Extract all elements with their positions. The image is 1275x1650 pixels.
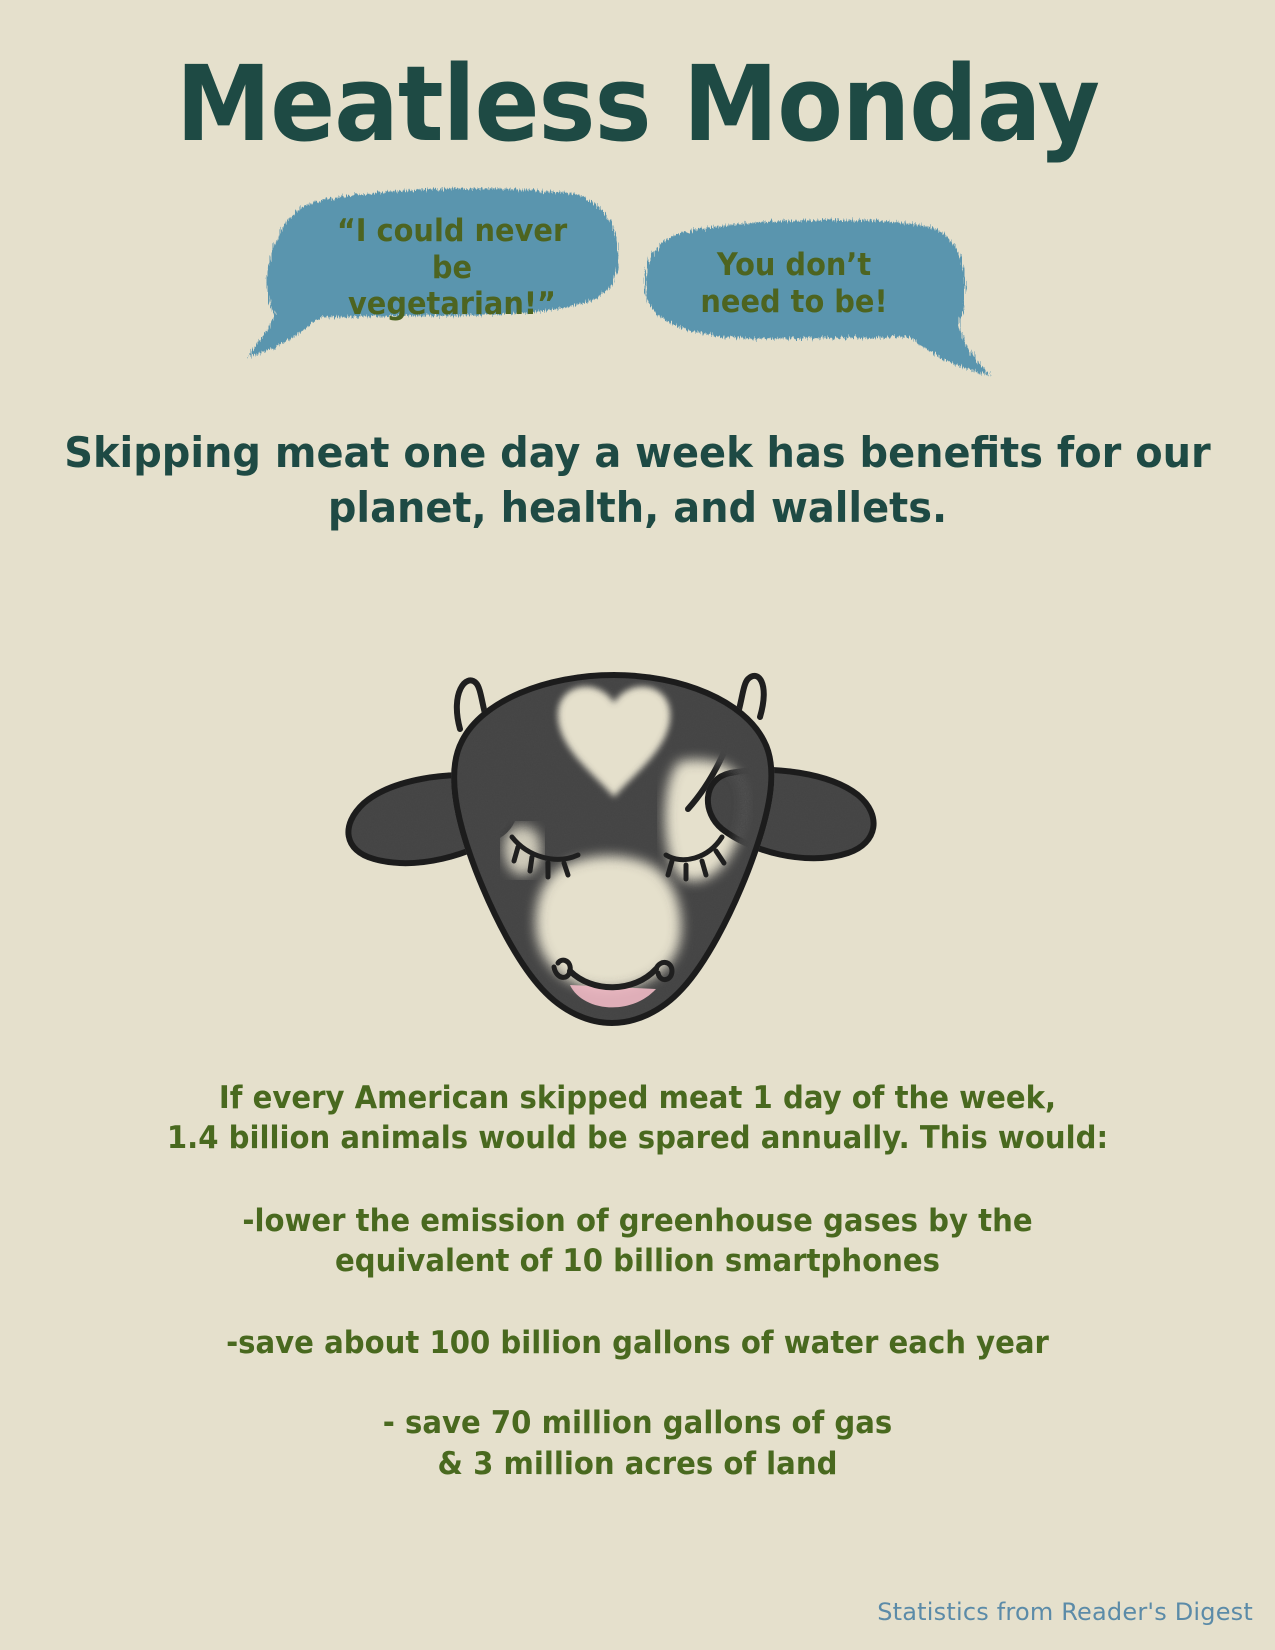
cow-svg xyxy=(330,565,890,1045)
subheading: Skipping meat one day a week has benefit… xyxy=(32,425,1243,536)
speech-bubble-shapes xyxy=(0,185,1275,400)
stats-bullet-water: -save about 100 billion gallons of water… xyxy=(38,1323,1237,1363)
stats-bullet-gas-land: - save 70 million gallons of gas & 3 mil… xyxy=(38,1403,1237,1484)
speech-bubble-group: “I could never be vegetarian!” You don’t… xyxy=(0,185,1275,400)
stats-bullet-emissions: -lower the emission of greenhouse gases … xyxy=(38,1201,1237,1282)
cow-head-illustration xyxy=(330,565,890,1045)
reply-bubble-text: You don’t need to be! xyxy=(673,247,915,320)
objection-bubble-text: “I could never be vegetarian!” xyxy=(327,213,576,323)
poster-canvas: Meatless Monday “I cou xyxy=(0,0,1275,1650)
cow-head-shape xyxy=(454,675,771,1023)
page-title: Meatless Monday xyxy=(51,52,1224,156)
stats-intro: If every American skipped meat 1 day of … xyxy=(38,1078,1237,1159)
stats-block: If every American skipped meat 1 day of … xyxy=(38,1078,1237,1484)
source-attribution: Statistics from Reader's Digest xyxy=(877,1598,1253,1626)
